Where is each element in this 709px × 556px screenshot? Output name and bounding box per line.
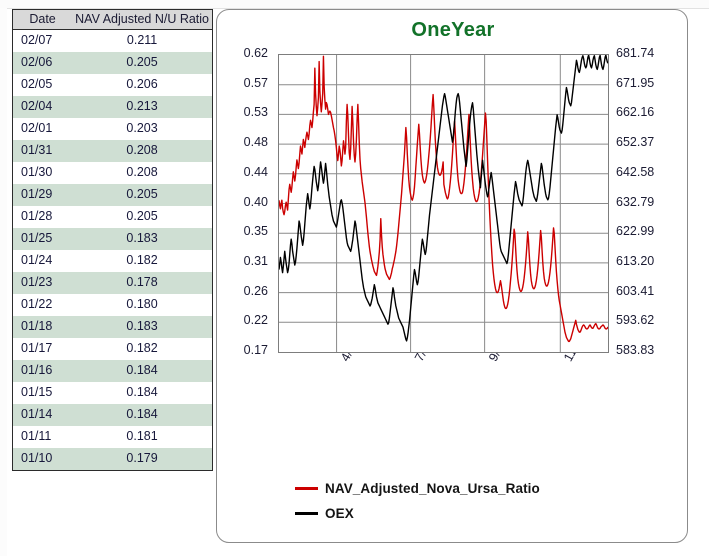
y-axis-left-tick-label: 0.44 — [244, 165, 268, 179]
y-axis-right-tick-label: 622.99 — [616, 224, 654, 238]
chart-panel: OneYear 0.62681.740.57671.950.53662.160.… — [216, 9, 688, 543]
table-row[interactable]: 02/050.206 — [13, 74, 212, 96]
y-axis-right-tick-label: 681.74 — [616, 46, 654, 60]
column-header-ratio: NAV Adjusted N/U Ratio — [72, 10, 212, 30]
cell-date: 01/23 — [13, 272, 72, 294]
cell-ratio: 0.179 — [72, 448, 212, 470]
table-row[interactable]: 02/060.205 — [13, 52, 212, 74]
table-row[interactable]: 01/300.208 — [13, 162, 212, 184]
y-axis-left-tick-label: 0.26 — [244, 284, 268, 298]
cell-ratio: 0.206 — [72, 74, 212, 96]
cell-ratio: 0.181 — [72, 426, 212, 448]
legend-swatch-nav — [295, 487, 318, 490]
table-row[interactable]: 01/160.184 — [13, 360, 212, 382]
cell-date: 01/31 — [13, 140, 72, 162]
y-axis-right-tick-label: 613.20 — [616, 254, 654, 268]
y-axis-left-tick-label: 0.17 — [244, 343, 268, 357]
table-row[interactable]: 01/240.182 — [13, 250, 212, 272]
cell-date: 01/25 — [13, 228, 72, 250]
cell-date: 02/04 — [13, 96, 72, 118]
cell-ratio: 0.208 — [72, 162, 212, 184]
legend-label-oex: OEX — [325, 506, 354, 521]
cell-date: 01/10 — [13, 448, 72, 470]
cell-ratio: 0.211 — [72, 30, 212, 53]
cell-date: 01/17 — [13, 338, 72, 360]
legend-label-nav: NAV_Adjusted_Nova_Ursa_Ratio — [325, 481, 540, 496]
cell-ratio: 0.182 — [72, 338, 212, 360]
table-row[interactable]: 01/280.205 — [13, 206, 212, 228]
table-row[interactable]: 01/310.208 — [13, 140, 212, 162]
table-row[interactable]: 02/070.211 — [13, 30, 212, 53]
table-row[interactable]: 01/140.184 — [13, 404, 212, 426]
plot-svg — [279, 55, 608, 352]
cell-ratio: 0.203 — [72, 118, 212, 140]
nav-ratio-table: Date NAV Adjusted N/U Ratio 02/070.21102… — [12, 9, 213, 471]
y-axis-right-tick-label: 642.58 — [616, 165, 654, 179]
table-header-row: Date NAV Adjusted N/U Ratio — [13, 10, 212, 30]
table-row[interactable]: 01/230.178 — [13, 272, 212, 294]
legend-item-oex: OEX — [295, 501, 540, 526]
legend-swatch-oex — [295, 512, 318, 515]
cell-date: 01/16 — [13, 360, 72, 382]
y-axis-left-tick-label: 0.22 — [244, 313, 268, 327]
chart-title: OneYear — [217, 19, 689, 42]
y-axis-right-tick-label: 583.83 — [616, 343, 654, 357]
cell-date: 01/22 — [13, 294, 72, 316]
y-axis-left-tick-label: 0.31 — [244, 254, 268, 268]
y-axis-left-tick-label: 0.53 — [244, 105, 268, 119]
plot-area — [278, 54, 609, 353]
y-axis-left-tick-label: 0.57 — [244, 76, 268, 90]
table-row[interactable]: 01/290.205 — [13, 184, 212, 206]
cell-ratio: 0.205 — [72, 184, 212, 206]
cell-ratio: 0.205 — [72, 206, 212, 228]
cell-date: 02/07 — [13, 30, 72, 53]
chart-legend: NAV_Adjusted_Nova_Ursa_Ratio OEX — [295, 476, 540, 526]
y-axis-right-tick-label: 603.41 — [616, 284, 654, 298]
y-axis-right-tick-label: 652.37 — [616, 135, 654, 149]
cell-date: 01/14 — [13, 404, 72, 426]
y-axis-left-tick-label: 0.40 — [244, 195, 268, 209]
table-row[interactable]: 01/110.181 — [13, 426, 212, 448]
legend-item-nav: NAV_Adjusted_Nova_Ursa_Ratio — [295, 476, 540, 501]
cell-ratio: 0.184 — [72, 382, 212, 404]
y-axis-right-tick-label: 662.16 — [616, 105, 654, 119]
table-row[interactable]: 01/250.183 — [13, 228, 212, 250]
cell-ratio: 0.180 — [72, 294, 212, 316]
table-row[interactable]: 02/010.203 — [13, 118, 212, 140]
cell-ratio: 0.183 — [72, 228, 212, 250]
table-row[interactable]: 01/220.180 — [13, 294, 212, 316]
cell-ratio: 0.213 — [72, 96, 212, 118]
y-axis-right-tick-label: 632.79 — [616, 195, 654, 209]
nav-ratio-table-element: Date NAV Adjusted N/U Ratio 02/070.21102… — [13, 10, 212, 470]
y-axis-right-tick-label: 593.62 — [616, 313, 654, 327]
cell-ratio: 0.184 — [72, 404, 212, 426]
window-top-rail — [0, 0, 709, 9]
cell-date: 02/05 — [13, 74, 72, 96]
cell-date: 01/24 — [13, 250, 72, 272]
cell-ratio: 0.205 — [72, 52, 212, 74]
cell-ratio: 0.178 — [72, 272, 212, 294]
table-row[interactable]: 01/180.183 — [13, 316, 212, 338]
cell-date: 01/15 — [13, 382, 72, 404]
cell-ratio: 0.184 — [72, 360, 212, 382]
table-row[interactable]: 01/150.184 — [13, 382, 212, 404]
table-row[interactable]: 01/100.179 — [13, 448, 212, 470]
table-row[interactable]: 02/040.213 — [13, 96, 212, 118]
cell-ratio: 0.208 — [72, 140, 212, 162]
cell-date: 02/06 — [13, 52, 72, 74]
cell-date: 01/29 — [13, 184, 72, 206]
y-axis-right-tick-label: 671.95 — [616, 76, 654, 90]
window-left-rail — [0, 8, 7, 556]
cell-date: 01/28 — [13, 206, 72, 228]
cell-date: 02/01 — [13, 118, 72, 140]
y-axis-left-tick-label: 0.35 — [244, 224, 268, 238]
y-axis-left-tick-label: 0.62 — [244, 46, 268, 60]
table-body: 02/070.21102/060.20502/050.20602/040.213… — [13, 30, 212, 471]
table-row[interactable]: 01/170.182 — [13, 338, 212, 360]
cell-ratio: 0.183 — [72, 316, 212, 338]
y-axis-left-tick-label: 0.48 — [244, 135, 268, 149]
column-header-date: Date — [13, 10, 72, 30]
cell-date: 01/30 — [13, 162, 72, 184]
cell-ratio: 0.182 — [72, 250, 212, 272]
cell-date: 01/18 — [13, 316, 72, 338]
cell-date: 01/11 — [13, 426, 72, 448]
